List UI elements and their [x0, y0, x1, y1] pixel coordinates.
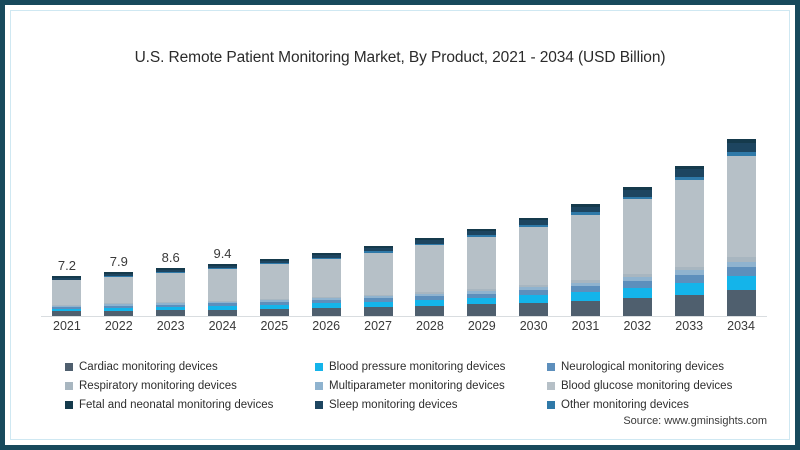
- bar-segment[interactable]: [208, 269, 237, 301]
- legend-swatch-icon: [315, 363, 323, 371]
- bar-group[interactable]: [364, 246, 393, 317]
- bar-stack: [623, 187, 652, 317]
- x-tick-label: 2025: [248, 319, 300, 333]
- legend-item[interactable]: Other monitoring devices: [547, 399, 755, 411]
- bar-stack: [675, 166, 704, 317]
- bar-segment[interactable]: [519, 295, 548, 303]
- bar-segment[interactable]: [364, 253, 393, 295]
- x-axis-line: [41, 316, 767, 317]
- bar-group[interactable]: [260, 259, 289, 317]
- legend-label: Respiratory monitoring devices: [79, 380, 237, 392]
- legend-label: Multiparameter monitoring devices: [329, 380, 505, 392]
- legend-label: Blood glucose monitoring devices: [561, 380, 732, 392]
- legend-swatch-icon: [547, 401, 555, 409]
- bar-group[interactable]: [675, 166, 704, 317]
- legend-item[interactable]: Respiratory monitoring devices: [65, 380, 315, 392]
- bar-stack: [260, 259, 289, 317]
- x-tick-label: 2031: [560, 319, 612, 333]
- x-tick-label: 2022: [93, 319, 145, 333]
- x-tick-label: 2030: [508, 319, 560, 333]
- bar-segment[interactable]: [727, 156, 756, 257]
- x-tick-label: 2028: [404, 319, 456, 333]
- chart-legend: Cardiac monitoring devicesBlood pressure…: [65, 357, 755, 415]
- x-tick-label: 2024: [197, 319, 249, 333]
- legend-label: Fetal and neonatal monitoring devices: [79, 399, 273, 411]
- bar-segment[interactable]: [156, 273, 185, 302]
- bar-segment[interactable]: [727, 267, 756, 276]
- bar-group[interactable]: 7.9: [104, 272, 133, 317]
- bar-stack: 9.4: [208, 264, 237, 317]
- bar-group[interactable]: [571, 204, 600, 317]
- bar-stack: [519, 218, 548, 317]
- bar-segment[interactable]: [623, 190, 652, 197]
- bar-stack: [727, 139, 756, 317]
- page-title: U.S. Remote Patient Monitoring Market, B…: [5, 49, 795, 67]
- legend-item[interactable]: Multiparameter monitoring devices: [315, 380, 547, 392]
- bar-segment[interactable]: [675, 169, 704, 177]
- legend-swatch-icon: [315, 382, 323, 390]
- bar-segment[interactable]: [675, 275, 704, 283]
- legend-swatch-icon: [315, 401, 323, 409]
- bar-group[interactable]: [727, 139, 756, 317]
- bar-segment[interactable]: [312, 259, 341, 297]
- bar-segment[interactable]: [675, 283, 704, 295]
- bar-value-label: 9.4: [213, 246, 231, 261]
- bar-segment[interactable]: [571, 292, 600, 301]
- x-tick-label: 2032: [611, 319, 663, 333]
- x-tick-label: 2034: [715, 319, 767, 333]
- bar-segment[interactable]: [260, 264, 289, 299]
- bar-group[interactable]: [415, 238, 444, 317]
- bar-stack: [415, 238, 444, 317]
- bar-segment[interactable]: [467, 298, 496, 305]
- bar-group[interactable]: [623, 187, 652, 317]
- legend-swatch-icon: [65, 363, 73, 371]
- legend-swatch-icon: [65, 382, 73, 390]
- bar-segment[interactable]: [519, 303, 548, 317]
- x-tick-label: 2033: [663, 319, 715, 333]
- bar-stack: 7.2: [52, 276, 81, 317]
- legend-item[interactable]: Neurological monitoring devices: [547, 361, 755, 373]
- bar-group[interactable]: 8.6: [156, 268, 185, 317]
- bar-value-label: 8.6: [162, 250, 180, 265]
- bar-segment[interactable]: [727, 276, 756, 290]
- source-attribution: Source: www.gminsights.com: [623, 415, 767, 427]
- plot-area: 7.27.98.69.4: [41, 91, 767, 317]
- legend-item[interactable]: Fetal and neonatal monitoring devices: [65, 399, 315, 411]
- legend-swatch-icon: [65, 401, 73, 409]
- legend-label: Blood pressure monitoring devices: [329, 361, 505, 373]
- bar-group[interactable]: 7.2: [52, 276, 81, 317]
- x-tick-label: 2029: [456, 319, 508, 333]
- bar-stack: [571, 204, 600, 317]
- bar-value-label: 7.2: [58, 258, 76, 273]
- x-tick-label: 2023: [145, 319, 197, 333]
- bar-group[interactable]: [312, 253, 341, 317]
- legend-label: Neurological monitoring devices: [561, 361, 724, 373]
- bar-stack: [467, 229, 496, 317]
- legend-label: Cardiac monitoring devices: [79, 361, 218, 373]
- bar-segment[interactable]: [675, 295, 704, 317]
- bar-value-label: 7.9: [110, 254, 128, 269]
- bar-segment[interactable]: [623, 298, 652, 317]
- bar-stack: [312, 253, 341, 317]
- bar-stack: 7.9: [104, 272, 133, 317]
- bar-segment[interactable]: [415, 245, 444, 292]
- bar-segment[interactable]: [104, 277, 133, 304]
- legend-swatch-icon: [547, 363, 555, 371]
- bar-segment[interactable]: [519, 227, 548, 285]
- legend-item[interactable]: Cardiac monitoring devices: [65, 361, 315, 373]
- chart-card: U.S. Remote Patient Monitoring Market, B…: [0, 0, 800, 450]
- legend-item[interactable]: Sleep monitoring devices: [315, 399, 547, 411]
- bar-segment[interactable]: [623, 288, 652, 298]
- bar-stack: 8.6: [156, 268, 185, 317]
- bar-group[interactable]: [519, 218, 548, 317]
- bar-segment[interactable]: [467, 237, 496, 289]
- legend-swatch-icon: [547, 382, 555, 390]
- bar-group[interactable]: [467, 229, 496, 317]
- bar-segment[interactable]: [52, 280, 81, 304]
- bar-segment[interactable]: [623, 199, 652, 274]
- bar-segment[interactable]: [571, 301, 600, 317]
- bar-stack: [364, 246, 393, 317]
- bar-group[interactable]: 9.4: [208, 264, 237, 317]
- bar-segment[interactable]: [727, 143, 756, 153]
- legend-item[interactable]: Blood glucose monitoring devices: [547, 380, 755, 392]
- legend-label: Other monitoring devices: [561, 399, 689, 411]
- bar-segment[interactable]: [727, 290, 756, 317]
- x-tick-label: 2026: [300, 319, 352, 333]
- legend-label: Sleep monitoring devices: [329, 399, 458, 411]
- x-tick-label: 2027: [352, 319, 404, 333]
- legend-item[interactable]: Blood pressure monitoring devices: [315, 361, 547, 373]
- bars-container: 7.27.98.69.4: [41, 91, 767, 317]
- bar-segment[interactable]: [571, 215, 600, 281]
- x-tick-label: 2021: [41, 319, 93, 333]
- bar-segment[interactable]: [675, 180, 704, 267]
- x-axis-tick-labels: 2021202220232024202520262027202820292030…: [41, 319, 767, 339]
